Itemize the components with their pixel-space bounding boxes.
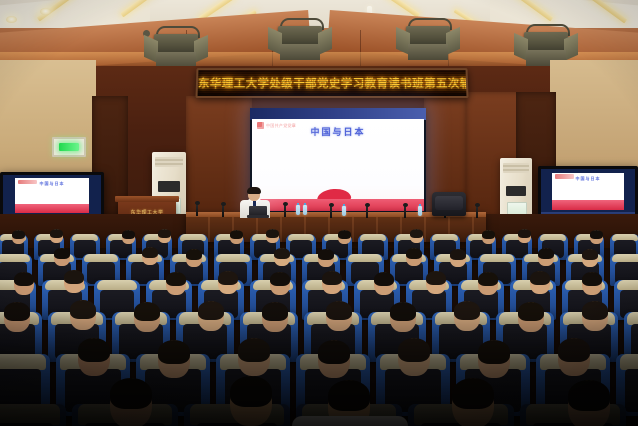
water-bottle	[303, 205, 307, 215]
audience-head	[582, 301, 608, 331]
audience-head	[230, 230, 243, 244]
audience-head	[478, 272, 498, 295]
hair	[426, 271, 446, 285]
hair	[198, 301, 224, 320]
hair	[158, 229, 171, 238]
spotlight-body	[278, 26, 322, 46]
hair	[4, 302, 30, 321]
audience-head	[390, 302, 416, 332]
audience-head	[78, 338, 110, 376]
audience-head	[518, 302, 544, 332]
laptop	[247, 206, 269, 218]
audience-head	[518, 229, 531, 243]
seat-cap	[0, 404, 60, 425]
monitor-slide-wave	[552, 200, 623, 210]
hair	[326, 301, 352, 320]
microphone	[330, 206, 332, 218]
audience-head	[266, 229, 279, 243]
microphone	[476, 206, 478, 218]
audience-head	[482, 230, 495, 244]
audience-head	[322, 271, 342, 294]
projection-screen: 中国共产党党章 中国与日本	[250, 108, 426, 213]
downlight	[6, 16, 17, 23]
audience-head	[426, 271, 446, 294]
hair	[390, 302, 416, 321]
monitor-slide: 中国与日本	[15, 178, 89, 213]
audience-shoulders	[292, 416, 408, 426]
ac-control-panel	[158, 181, 180, 191]
ac-control-panel	[506, 186, 526, 196]
hair	[478, 272, 498, 286]
hair	[374, 272, 394, 286]
hair	[122, 230, 135, 239]
slide-wave-front	[252, 199, 424, 211]
hair	[450, 249, 466, 260]
stage-spotlight	[400, 18, 456, 62]
audience-head	[166, 272, 186, 295]
microphone	[284, 205, 286, 217]
led-banner: 东华理工大学处级干部党史学习教育读书班第五次辅导报告会	[195, 68, 468, 98]
hair	[558, 338, 590, 362]
seat-cap	[617, 280, 638, 290]
audience-head	[318, 340, 350, 378]
hair	[398, 338, 430, 362]
audience-head	[590, 230, 603, 244]
microphone	[404, 206, 406, 218]
audience-head	[70, 300, 96, 330]
hair	[54, 248, 70, 259]
spotlight-barndoor-bottom	[408, 44, 448, 60]
monitor-slide: 中国与日本	[552, 173, 623, 210]
led-banner-text: 东华理工大学处级干部党史学习教育读书班第五次辅导报告会	[198, 75, 467, 91]
hair	[582, 301, 608, 320]
hair	[50, 229, 63, 238]
laptop-base	[247, 215, 269, 218]
exit-sign	[52, 137, 86, 157]
stage-chair	[432, 192, 466, 216]
seat	[0, 404, 66, 426]
audience-head	[64, 270, 84, 293]
microphone	[222, 205, 224, 217]
audience-head	[54, 248, 70, 266]
water-bottle	[342, 206, 346, 216]
spotlight-body	[406, 26, 450, 46]
audience-head	[274, 248, 290, 266]
hair	[338, 230, 351, 239]
audience-head	[450, 249, 466, 267]
audience-head	[50, 229, 63, 243]
audience-head-foreground	[230, 376, 272, 426]
audience-head-foreground	[568, 380, 610, 426]
water-bottle	[418, 206, 422, 216]
hair	[452, 378, 494, 409]
hair	[230, 376, 272, 407]
audience-head	[14, 272, 34, 295]
audience-head	[326, 301, 352, 331]
hair	[64, 270, 84, 284]
audience-head	[186, 249, 202, 267]
audience-head-foreground	[110, 378, 152, 426]
hair	[238, 338, 270, 362]
monitor-slide-wave	[15, 204, 89, 213]
hair	[478, 340, 510, 364]
ac-grille	[155, 157, 182, 167]
audience-head	[122, 230, 135, 244]
audience-head	[158, 340, 190, 378]
exit-sign-lamp	[59, 143, 79, 151]
downlight	[40, 8, 51, 15]
audience-head	[406, 248, 422, 266]
hair	[186, 249, 202, 260]
audience-area	[0, 228, 638, 426]
hair	[166, 272, 186, 286]
seat-cap	[0, 354, 46, 370]
hair	[454, 301, 480, 320]
podium-top	[115, 196, 179, 202]
hair	[318, 340, 350, 364]
audience-head	[582, 249, 598, 267]
microphone	[196, 204, 198, 216]
hair	[318, 249, 334, 260]
seat-back	[625, 369, 638, 412]
hair	[78, 338, 110, 362]
ac-grille	[503, 163, 529, 173]
hair	[406, 248, 422, 259]
spotlight-body	[524, 32, 568, 52]
audience-head	[318, 249, 334, 267]
hair	[12, 230, 25, 239]
hair	[134, 302, 160, 321]
audience-head	[270, 272, 290, 295]
audience-head	[410, 229, 423, 243]
hair	[590, 230, 603, 239]
audience-head	[218, 271, 238, 294]
hair	[218, 271, 238, 285]
monitor-slide-title: 中国与日本	[15, 181, 89, 187]
audience-head	[558, 338, 590, 376]
audience-head	[338, 230, 351, 244]
seat-cap	[620, 354, 638, 370]
speaker-hair	[247, 187, 261, 194]
spotlight-barndoor-bottom	[280, 44, 320, 60]
monitor-slide-title: 中国与日本	[552, 176, 623, 182]
hair	[518, 229, 531, 238]
hair	[266, 229, 279, 238]
microphone	[366, 206, 368, 218]
audience-head	[262, 302, 288, 332]
hair	[158, 340, 190, 364]
hair	[482, 230, 495, 239]
hair	[270, 272, 290, 286]
stage-spotlight	[272, 18, 328, 62]
audience-head	[238, 338, 270, 376]
audience-head	[134, 302, 160, 332]
presentation-slide: 中国共产党党章 中国与日本	[252, 119, 424, 211]
hair	[328, 380, 370, 411]
slide-title: 中国与日本	[252, 125, 424, 138]
audience-head	[478, 340, 510, 378]
audience-head-foreground	[452, 378, 494, 426]
audience-head	[4, 302, 30, 332]
hair	[142, 247, 158, 258]
hair	[14, 272, 34, 286]
hair	[582, 272, 602, 286]
stage-spotlight	[148, 26, 204, 70]
hair	[230, 230, 243, 239]
water-bottle	[296, 205, 300, 215]
audience-head	[582, 272, 602, 295]
spotlight-body	[154, 34, 198, 54]
seat-cap	[97, 280, 137, 290]
audience-head	[454, 301, 480, 331]
hair	[262, 302, 288, 321]
hair	[568, 380, 610, 411]
hair	[410, 229, 423, 238]
hair	[582, 249, 598, 260]
hair	[110, 378, 152, 409]
audience-head	[530, 271, 550, 294]
audience-head	[374, 272, 394, 295]
audience-head	[198, 301, 224, 331]
audience-head	[142, 247, 158, 265]
audience-head	[12, 230, 25, 244]
hair	[538, 248, 554, 259]
hair	[70, 300, 96, 319]
hair	[322, 271, 342, 285]
audience-head	[158, 229, 171, 243]
hair	[274, 248, 290, 259]
hair	[518, 302, 544, 321]
hair	[530, 271, 550, 285]
audience-head	[398, 338, 430, 376]
auditorium-photo: 东华理工大学处级干部党史学习教育读书班第五次辅导报告会 中国共产党党章 中国与日…	[0, 0, 638, 426]
audience-head	[538, 248, 554, 266]
